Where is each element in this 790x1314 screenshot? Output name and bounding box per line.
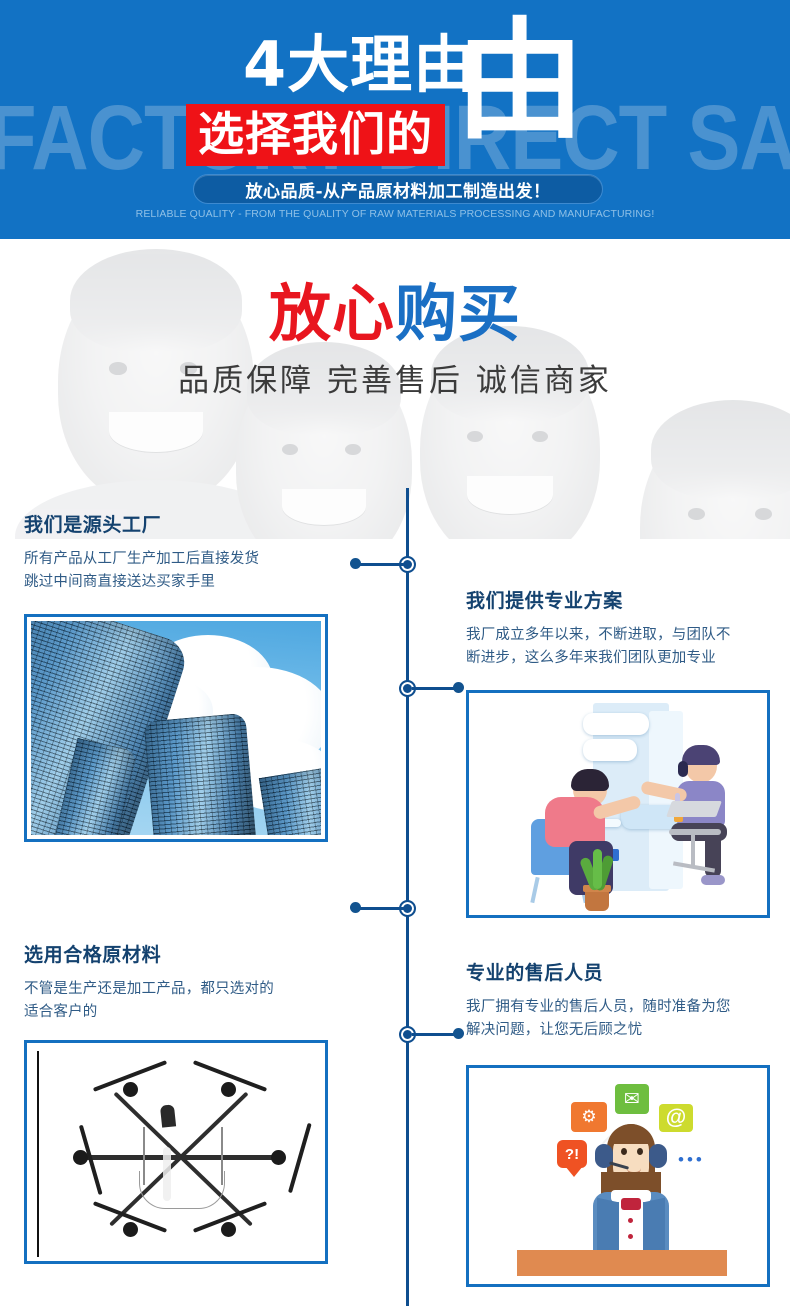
timeline-branch-1 (360, 563, 406, 566)
banner-english-subtitle: RELIABLE QUALITY - FROM THE QUALITY OF R… (0, 208, 790, 220)
timeline-enddot-4 (453, 1028, 464, 1039)
face-4 (640, 409, 790, 539)
block-source-factory-line2: 跳过中间商直接送达买家手里 (24, 571, 354, 594)
envelope-icon: ✉ (615, 1084, 649, 1114)
timeline-enddot-2 (453, 682, 464, 693)
block-source-factory-title: 我们是源头工厂 (24, 510, 354, 537)
block-qualified-materials-line1: 不管是生产还是加工产品，都只选对的 (24, 978, 354, 1001)
hexacopter-drone-photo (24, 1040, 328, 1264)
header-banner: FACTORY DIRECT SALE 由 4大理由 选择我们的 放心品质-从产… (0, 0, 790, 239)
block-professional-plan-line2: 断进步，这么多年来我们团队更加专业 (466, 647, 776, 670)
block-after-sales-staff-title: 专业的售后人员 (466, 958, 778, 985)
office-buildings-photo (24, 614, 328, 842)
block-after-sales-staff-line1: 我厂拥有专业的售后人员，随时准备为您 (466, 996, 778, 1019)
timeline-branch-2 (412, 687, 459, 690)
desk (517, 1250, 727, 1276)
hero-title-red: 放心 (269, 277, 395, 350)
banner-four-reason-title: 4大理由 (243, 34, 476, 96)
hero-title: 放心购买 (0, 279, 790, 349)
block-after-sales-staff-line2: 解决问题，让您无后顾之忧 (466, 1019, 778, 1042)
hero-section: 放心购买 品质保障 完善售后 诚信商家 (0, 239, 790, 539)
hero-subtitle: 品质保障 完善售后 诚信商家 (0, 361, 790, 401)
timeline-enddot-3 (350, 902, 361, 913)
question-bubble-icon: ?! (557, 1140, 587, 1168)
at-icon: @ (659, 1104, 693, 1132)
block-qualified-materials-line2: 适合客户的 (24, 1001, 354, 1024)
block-source-factory-line1: 所有产品从工厂生产加工后直接发货 (24, 548, 354, 571)
timeline-branch-4 (412, 1033, 459, 1036)
block-source-factory: 我们是源头工厂 所有产品从工厂生产加工后直接发货 跳过中间商直接送达买家手里 (24, 510, 354, 594)
block-professional-plan-line1: 我厂成立多年以来，不断进取，与团队不 (466, 624, 776, 647)
block-professional-plan-title: 我们提供专业方案 (466, 586, 776, 613)
hero-title-blue: 购买 (395, 277, 521, 350)
customer-service-illustration: ⚙ ✉ @ ?! ••• (466, 1065, 770, 1287)
block-qualified-materials: 选用合格原材料 不管是生产还是加工产品，都只选对的 适合客户的 (24, 940, 354, 1024)
block-qualified-materials-title: 选用合格原材料 (24, 940, 354, 967)
banner-choose-us-tag: 选择我们的 (186, 104, 445, 166)
gears-icon: ⚙ (571, 1102, 607, 1132)
timeline-axis (406, 488, 409, 1306)
timeline-branch-3 (360, 907, 406, 910)
block-professional-plan: 我们提供专业方案 我厂成立多年以来，不断进取，与团队不 断进步，这么多年来我们团… (466, 586, 776, 670)
business-meeting-illustration (466, 690, 770, 918)
banner-quality-pill: 放心品质-从产品原材料加工制造出发！ (193, 174, 603, 204)
block-after-sales-staff: 专业的售后人员 我厂拥有专业的售后人员，随时准备为您 解决问题，让您无后顾之忧 (466, 958, 778, 1042)
dots-icon: ••• (678, 1150, 705, 1170)
